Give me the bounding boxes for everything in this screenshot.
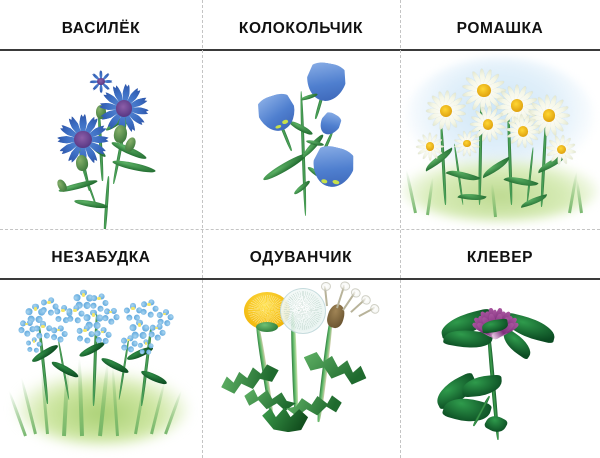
forget-me-not-floret (52, 324, 65, 337)
forget-me-not-illustration (0, 280, 202, 458)
flashcard-dandelion[interactable]: ОДУВАНЧИК (202, 229, 400, 458)
card-label-clover: КЛЕВЕР (467, 229, 533, 266)
clover-illustration (400, 280, 600, 458)
sepal (300, 92, 318, 101)
cut-guide-horizontal (0, 229, 600, 230)
forget-me-not-floret (96, 326, 109, 339)
forget-me-not-floret (20, 318, 33, 331)
flower-calyx (256, 322, 278, 332)
dandelion-seed (350, 298, 366, 312)
daisy-head (506, 115, 540, 149)
bell-flower (308, 142, 358, 191)
forget-me-not-floret (122, 334, 135, 347)
forget-me-not-floret (78, 324, 92, 338)
forget-me-not-floret (104, 306, 117, 319)
daisy-illustration (400, 51, 600, 230)
dandelion-seed-head (280, 288, 326, 334)
daisy-head (546, 135, 576, 165)
dandelion-seed (358, 306, 375, 316)
cornflower-illustration (0, 51, 202, 230)
leaf (74, 198, 109, 209)
forget-me-not-floret (158, 308, 171, 321)
forget-me-not-floret (86, 308, 101, 323)
flashcard-bellflower[interactable]: КОЛОКОЛЬЧИК (202, 0, 400, 229)
flashcard-clover[interactable]: КЛЕВЕР (400, 229, 600, 458)
card-label-daisy: РОМАШКА (457, 0, 544, 37)
forget-me-not-floret (76, 288, 91, 303)
leaf (299, 344, 370, 391)
daisy-head (416, 133, 444, 161)
card-label-forget-me-not: НЕЗАБУДКА (51, 229, 150, 266)
forget-me-not-floret (42, 296, 56, 310)
card-label-cornflower: ВАСИЛЁК (62, 0, 140, 37)
bell-flower (253, 90, 300, 136)
card-label-dandelion: ОДУВАНЧИК (250, 229, 352, 266)
flashcard-daisy[interactable]: РОМАШКА (400, 0, 600, 229)
stem (103, 176, 110, 229)
flashcard-cornflower[interactable]: ВАСИЛЁК (0, 0, 202, 229)
forget-me-not-floret (126, 302, 140, 316)
forget-me-not-floret (132, 318, 147, 333)
forget-me-not-floret (68, 304, 82, 318)
bellflower-illustration (202, 51, 400, 230)
leaf (112, 157, 156, 174)
forget-me-not-floret (36, 320, 50, 334)
card-label-bellflower: КОЛОКОЛЬЧИК (239, 0, 363, 37)
flashcard-sheet: ВАСИЛЁК (0, 0, 600, 458)
leaf (78, 339, 106, 359)
forget-me-not-floret (140, 338, 152, 350)
flashcard-forget-me-not[interactable]: НЕЗАБУДКА (0, 229, 202, 458)
forget-me-not-floret (150, 322, 163, 335)
bell-flower-bud (316, 109, 344, 138)
forget-me-not-floret (92, 292, 106, 306)
daisy-head (426, 91, 466, 131)
dandelion-illustration (202, 280, 400, 458)
forget-me-not-floret (142, 298, 156, 312)
daisy-head (454, 131, 480, 157)
forget-me-not-floret (28, 336, 40, 348)
